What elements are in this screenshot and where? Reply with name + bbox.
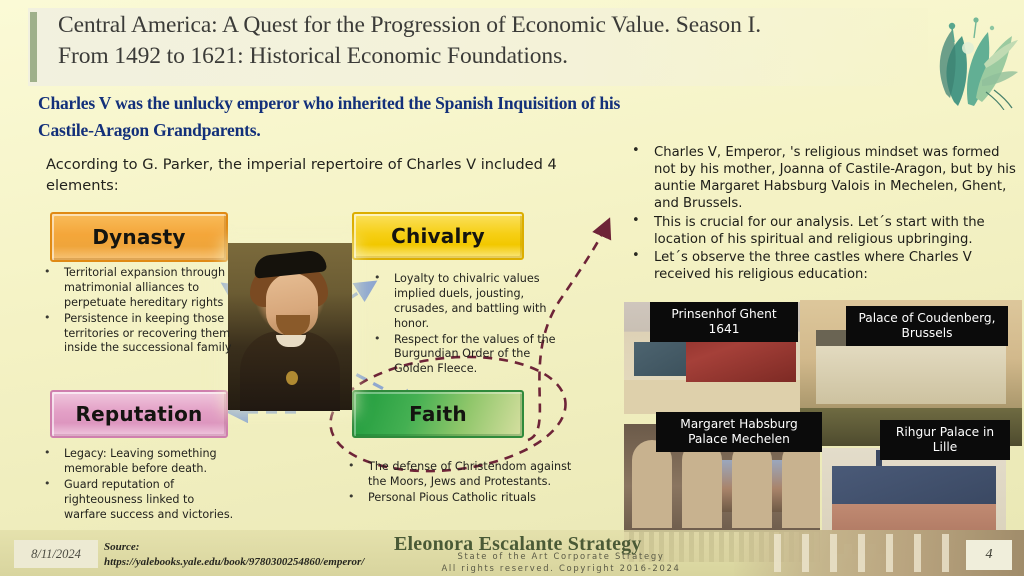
subtitle-line-2: Castile-Aragon Grandparents.: [38, 117, 838, 144]
concept-box-dynasty[interactable]: Dynasty: [50, 212, 228, 262]
bullet-item: Guard reputation of righteousness linked…: [40, 478, 236, 523]
bullets-reputation: Legacy: Leaving something memorable befo…: [40, 447, 236, 523]
ghent-secondary-roof: [634, 342, 690, 376]
concept-box-faith[interactable]: Faith: [352, 390, 524, 438]
bullet-item: Personal Pious Catholic rituals: [344, 491, 574, 506]
title-line-2: From 1492 to 1621: Historical Economic F…: [58, 41, 938, 72]
date-stamp: 8/11/2024: [14, 540, 98, 568]
bullet-item: The defense of Christendom against the M…: [344, 460, 574, 490]
source-citation: Source: https://yalebooks.yale.edu/book/…: [104, 540, 364, 570]
mechelen-arch: [732, 440, 772, 528]
slide-title: Central America: A Quest for the Progres…: [58, 10, 938, 73]
lille-roof: [832, 466, 996, 506]
brand-tagline: State of the Art Corporate Strategy: [398, 550, 724, 563]
bullet-item: Territorial expansion through matrimonia…: [40, 266, 232, 311]
caption-ghent: Prinsenhof Ghent 1641: [650, 302, 798, 342]
caption-coudenberg: Palace of Coudenberg, Brussels: [846, 306, 1008, 346]
slide-canvas: Central America: A Quest for the Progres…: [0, 0, 1024, 576]
source-label: Source:: [104, 540, 364, 555]
concept-label-reputation: Reputation: [76, 402, 203, 426]
bullet-item: Let´s observe the three castles where Ch…: [626, 249, 1022, 283]
intro-paragraph: According to G. Parker, the imperial rep…: [46, 154, 606, 196]
coudenberg-building: [816, 342, 1006, 404]
bullet-item: This is crucial for our analysis. Let´s …: [626, 214, 1022, 248]
bullet-item: Loyalty to chivalric values implied duel…: [370, 272, 570, 332]
brand-rights: All rights reserved. Copyright 2016-2024: [398, 562, 724, 575]
title-accent-bar: [30, 12, 37, 82]
brand-tagline-block: State of the Art Corporate Strategy All …: [398, 550, 724, 575]
bullets-faith: The defense of Christendom against the M…: [344, 460, 574, 507]
mechelen-arch: [682, 440, 722, 528]
concept-label-dynasty: Dynasty: [92, 225, 185, 249]
mechelen-arch: [782, 440, 820, 528]
subtitle-line-1: Charles V was the unlucky emperor who in…: [38, 90, 838, 117]
concept-label-chivalry: Chivalry: [391, 224, 485, 248]
bullet-item: Legacy: Leaving something memorable befo…: [40, 447, 236, 477]
title-line-1: Central America: A Quest for the Progres…: [58, 10, 938, 41]
concept-box-chivalry[interactable]: Chivalry: [352, 212, 524, 260]
page-number: 4: [966, 540, 1012, 570]
bullet-item: Persistence in keeping those territories…: [40, 312, 232, 357]
concept-box-reputation[interactable]: Reputation: [50, 390, 228, 438]
charles-v-portrait: [228, 243, 352, 410]
portrait-pendant: [286, 371, 298, 385]
bullet-item: Charles V, Emperor, 's religious mindset…: [626, 144, 1022, 213]
source-url[interactable]: https://yalebooks.yale.edu/book/97803002…: [104, 555, 364, 570]
leaf-decoration-icon: [924, 2, 1020, 110]
slide-subtitle: Charles V was the unlucky emperor who in…: [38, 90, 838, 144]
bullets-chivalry: Loyalty to chivalric values implied duel…: [370, 272, 570, 378]
mechelen-arch: [632, 440, 672, 528]
ghent-courtyard: [624, 380, 820, 414]
bullets-dynasty: Territorial expansion through matrimonia…: [40, 266, 232, 357]
bullet-item: Respect for the values of the Burgundian…: [370, 333, 570, 378]
caption-mechelen: Margaret Habsburg Palace Mechelen: [656, 412, 822, 452]
caption-lille: Rihgur Palace in Lille: [880, 420, 1010, 460]
concept-label-faith: Faith: [409, 402, 467, 426]
right-column-bullets: Charles V, Emperor, 's religious mindset…: [626, 144, 1022, 284]
